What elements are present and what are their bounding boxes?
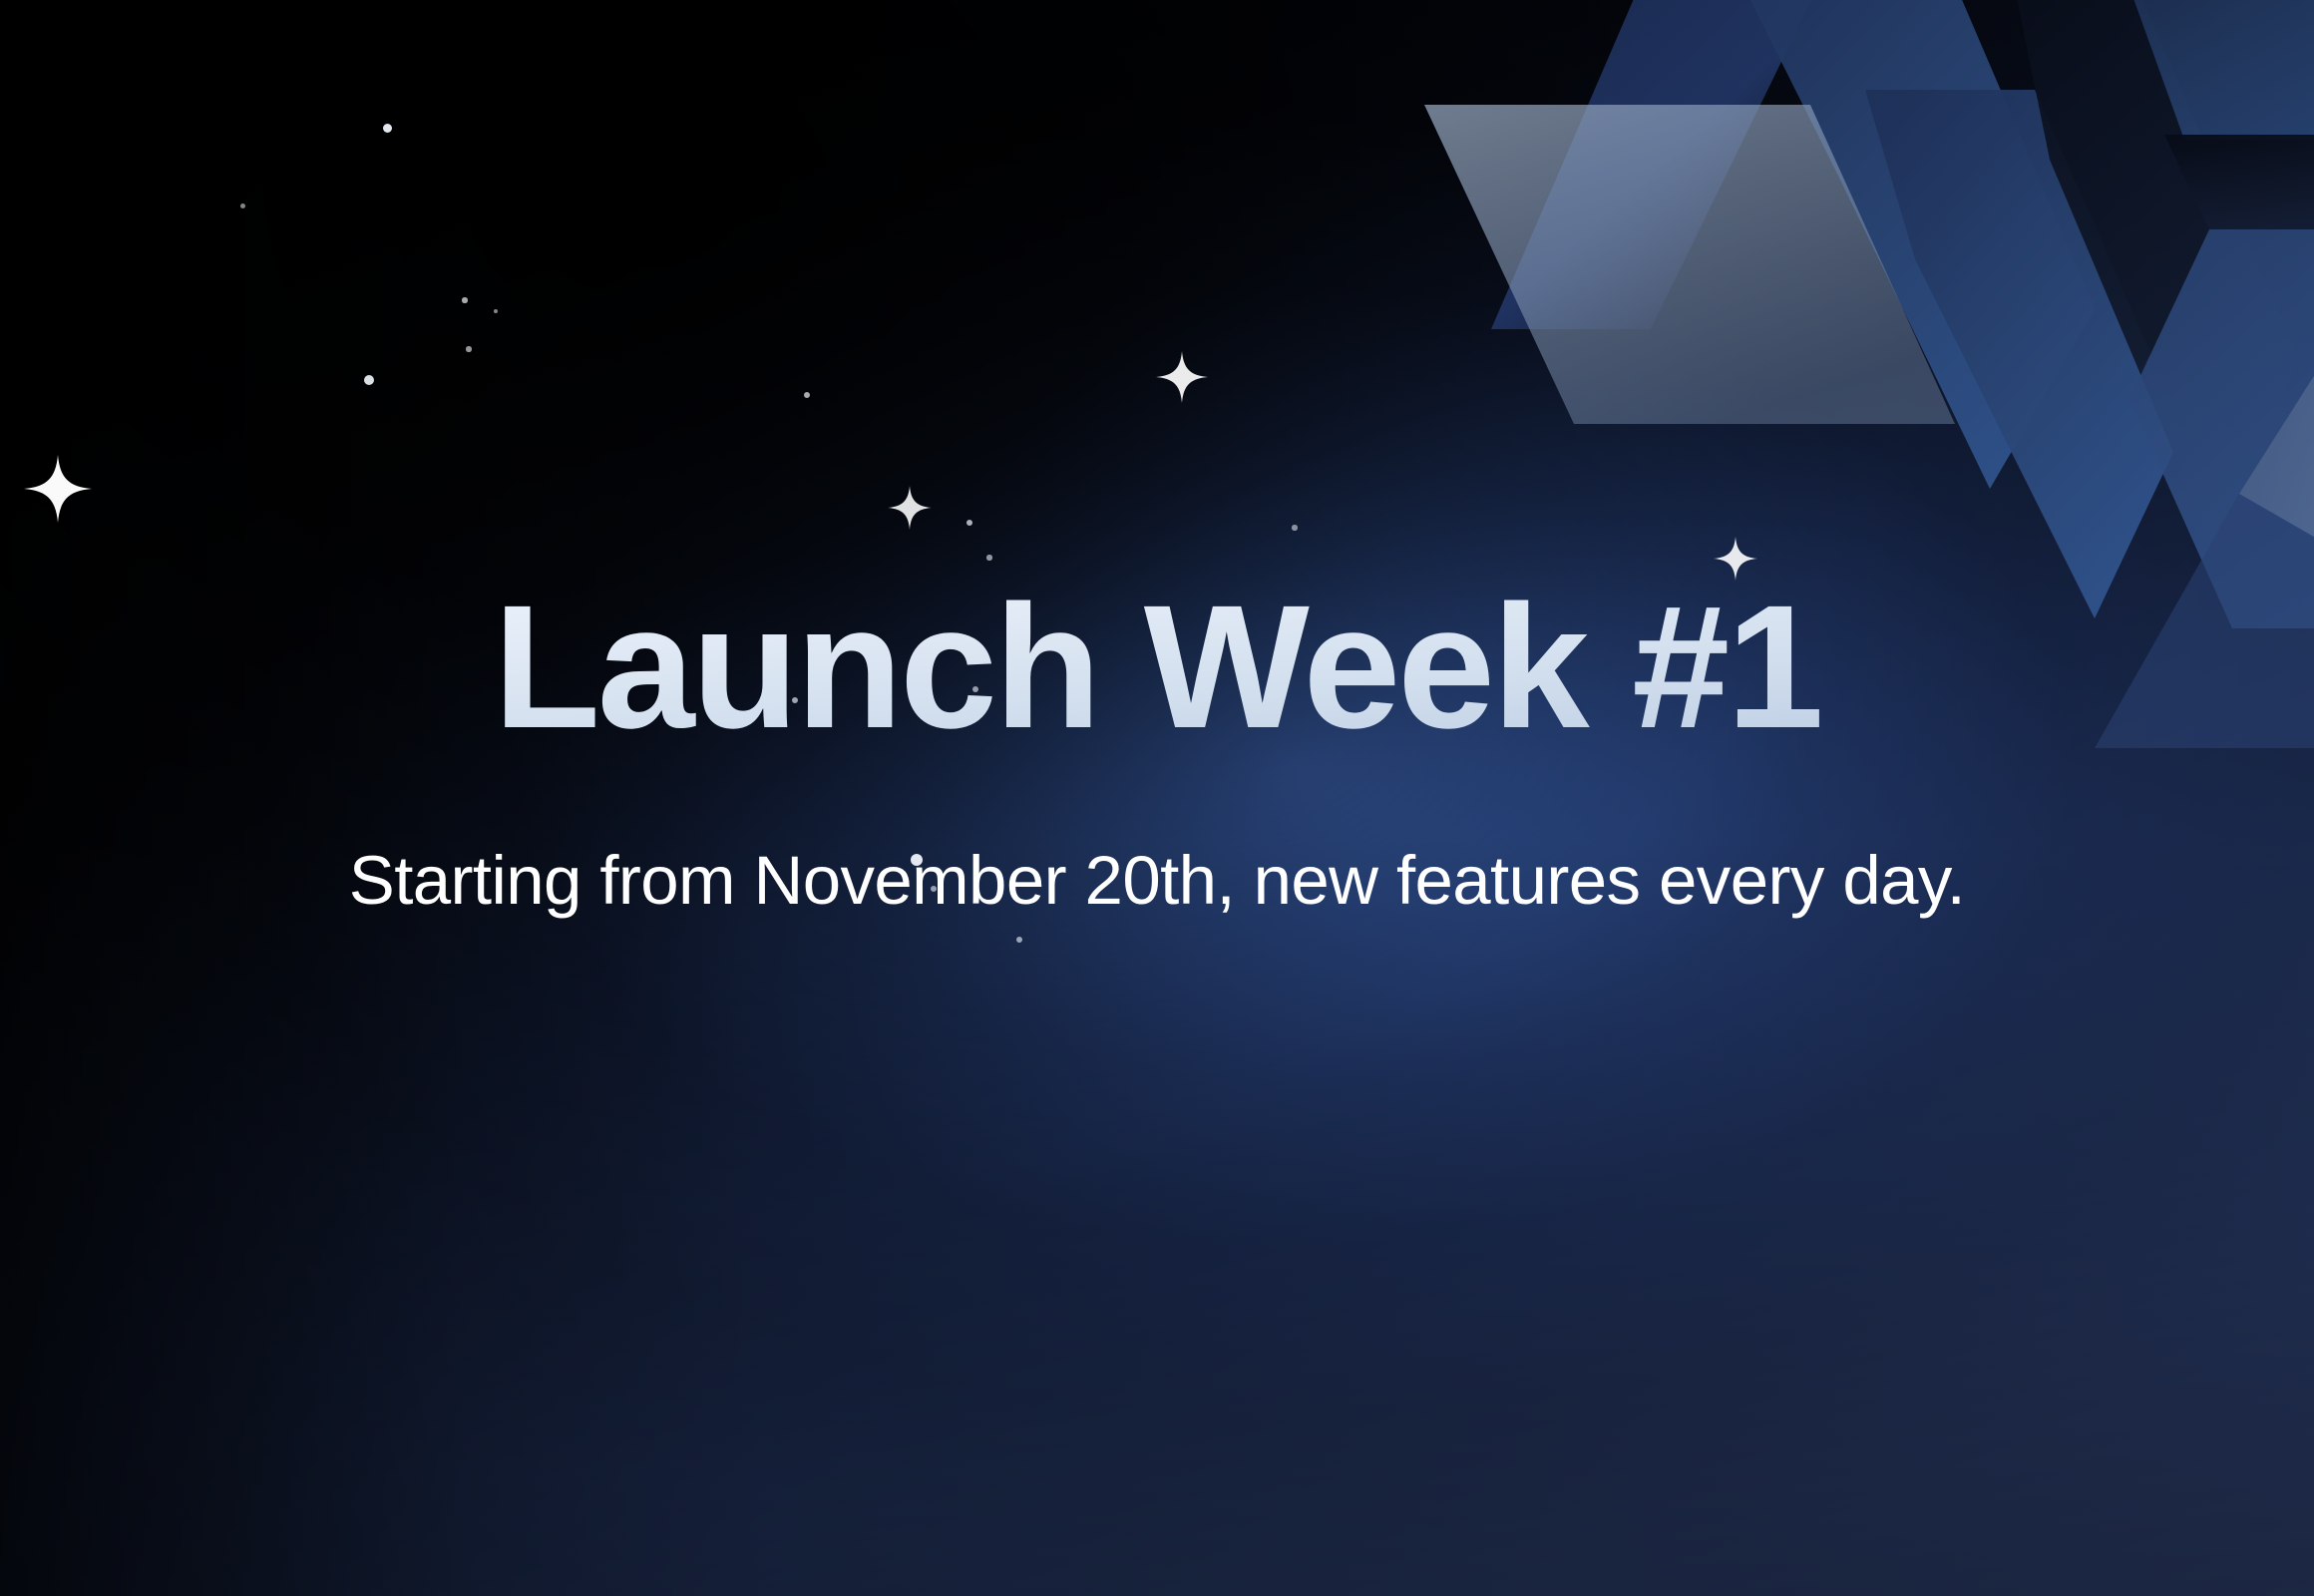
page-subtitle: Starting from November 20th, new feature… xyxy=(0,843,2314,919)
launch-week-hero: Launch Week #1 Starting from November 20… xyxy=(0,0,2314,1596)
hero-content: Launch Week #1 Starting from November 20… xyxy=(0,0,2314,1596)
page-title: Launch Week #1 xyxy=(0,579,2314,758)
